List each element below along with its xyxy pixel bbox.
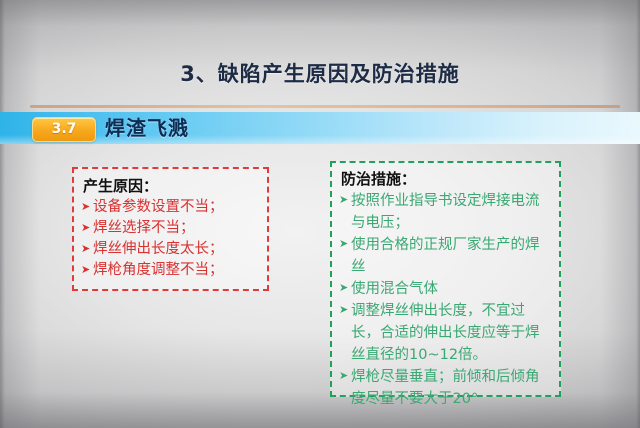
measures-panel: 防治措施： 按照作业指导书设定焊接电流与电压； 使用合格的正规厂家生产的焊丝 使…	[330, 161, 561, 397]
list-item: 使用混合气体	[339, 278, 553, 300]
list-item: 调整焊丝伸出长度，不宜过长，合适的伸出长度应等于焊丝直径的10~12倍。	[339, 300, 553, 366]
causes-panel-title: 产生原因：	[83, 176, 261, 196]
list-item: 使用合格的正规厂家生产的焊丝	[339, 234, 553, 278]
measures-panel-title: 防治措施：	[341, 169, 553, 189]
list-item: 设备参数设置不当；	[81, 197, 261, 218]
causes-list: 设备参数设置不当； 焊丝选择不当； 焊丝伸出长度太长； 焊枪角度调整不当；	[81, 197, 261, 281]
measures-list: 按照作业指导书设定焊接电流与电压； 使用合格的正规厂家生产的焊丝 使用混合气体 …	[339, 190, 553, 410]
section-number-badge: 3.7	[32, 117, 96, 142]
page-title: 3、缺陷产生原因及防治措施	[0, 58, 640, 88]
section-title: 焊渣飞溅	[105, 115, 189, 142]
slide-canvas: 3、缺陷产生原因及防治措施 3.7 焊渣飞溅 产生原因： 设备参数设置不当； 焊…	[0, 0, 640, 428]
divider-rule	[30, 105, 620, 108]
list-item: 焊丝伸出长度太长；	[81, 239, 261, 260]
list-item: 焊枪角度调整不当；	[81, 260, 261, 281]
causes-panel: 产生原因： 设备参数设置不当； 焊丝选择不当； 焊丝伸出长度太长； 焊枪角度调整…	[72, 167, 269, 291]
list-item: 按照作业指导书设定焊接电流与电压；	[339, 190, 553, 234]
list-item: 焊丝选择不当；	[81, 218, 261, 239]
section-header-band	[0, 112, 640, 144]
list-item: 焊枪尽量垂直；前倾和后倾角度尽量不要大于20°	[339, 366, 553, 410]
